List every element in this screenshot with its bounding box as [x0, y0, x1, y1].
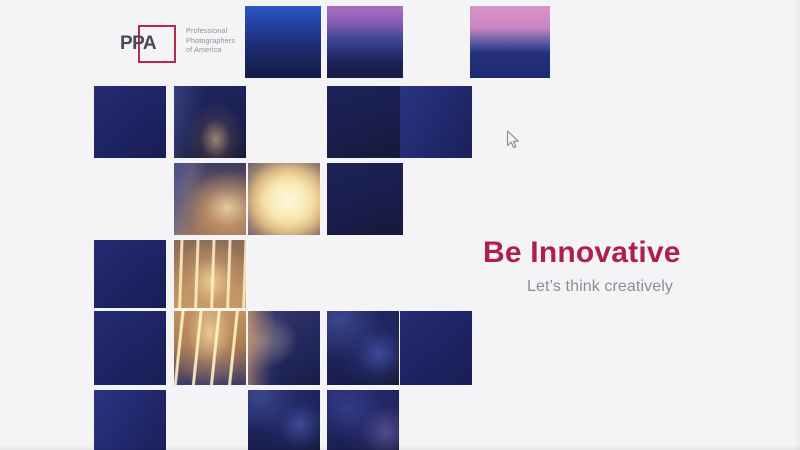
tile-r3-c1 — [174, 240, 246, 308]
tile-r1-c0 — [94, 86, 166, 158]
tile-r2-c1 — [174, 163, 246, 235]
ppa-logo: PPA Professional Photographers of Americ… — [120, 22, 250, 68]
tile-r5-c3 — [327, 390, 399, 450]
tile-r0-c5 — [470, 6, 550, 78]
tile-r4-c3 — [327, 311, 399, 385]
tile-r0-c3 — [327, 6, 403, 78]
logo-org-line-3: of America — [186, 45, 235, 55]
tile-r4-c5 — [400, 311, 472, 385]
ppa-logo-mark: PPA — [120, 25, 178, 65]
tile-r0-c2 — [245, 6, 321, 78]
logo-org-line-1: Professional — [186, 26, 235, 36]
tile-r4-c2 — [248, 311, 320, 385]
tile-r2-c2 — [248, 163, 320, 235]
tile-r5-c0 — [94, 390, 166, 450]
tile-r4-c0 — [94, 311, 166, 385]
tile-r1-c3 — [327, 86, 403, 158]
tile-r3-c0 — [94, 240, 166, 308]
presentation-slide: PPA Professional Photographers of Americ… — [0, 0, 800, 450]
logo-org-line-2: Photographers — [186, 36, 235, 46]
logo-monogram: PPA — [120, 34, 156, 54]
tile-r1-c4 — [400, 86, 472, 158]
tile-r1-c1 — [174, 86, 246, 158]
slide-subheadline: Let’s think creatively — [527, 278, 673, 296]
tile-r2-c3 — [327, 163, 403, 235]
tile-r4-c1 — [174, 311, 246, 385]
slide-headline: Be Innovative — [483, 236, 681, 270]
tile-r5-c2 — [248, 390, 320, 450]
logo-organization-name: Professional Photographers of America — [186, 26, 235, 55]
